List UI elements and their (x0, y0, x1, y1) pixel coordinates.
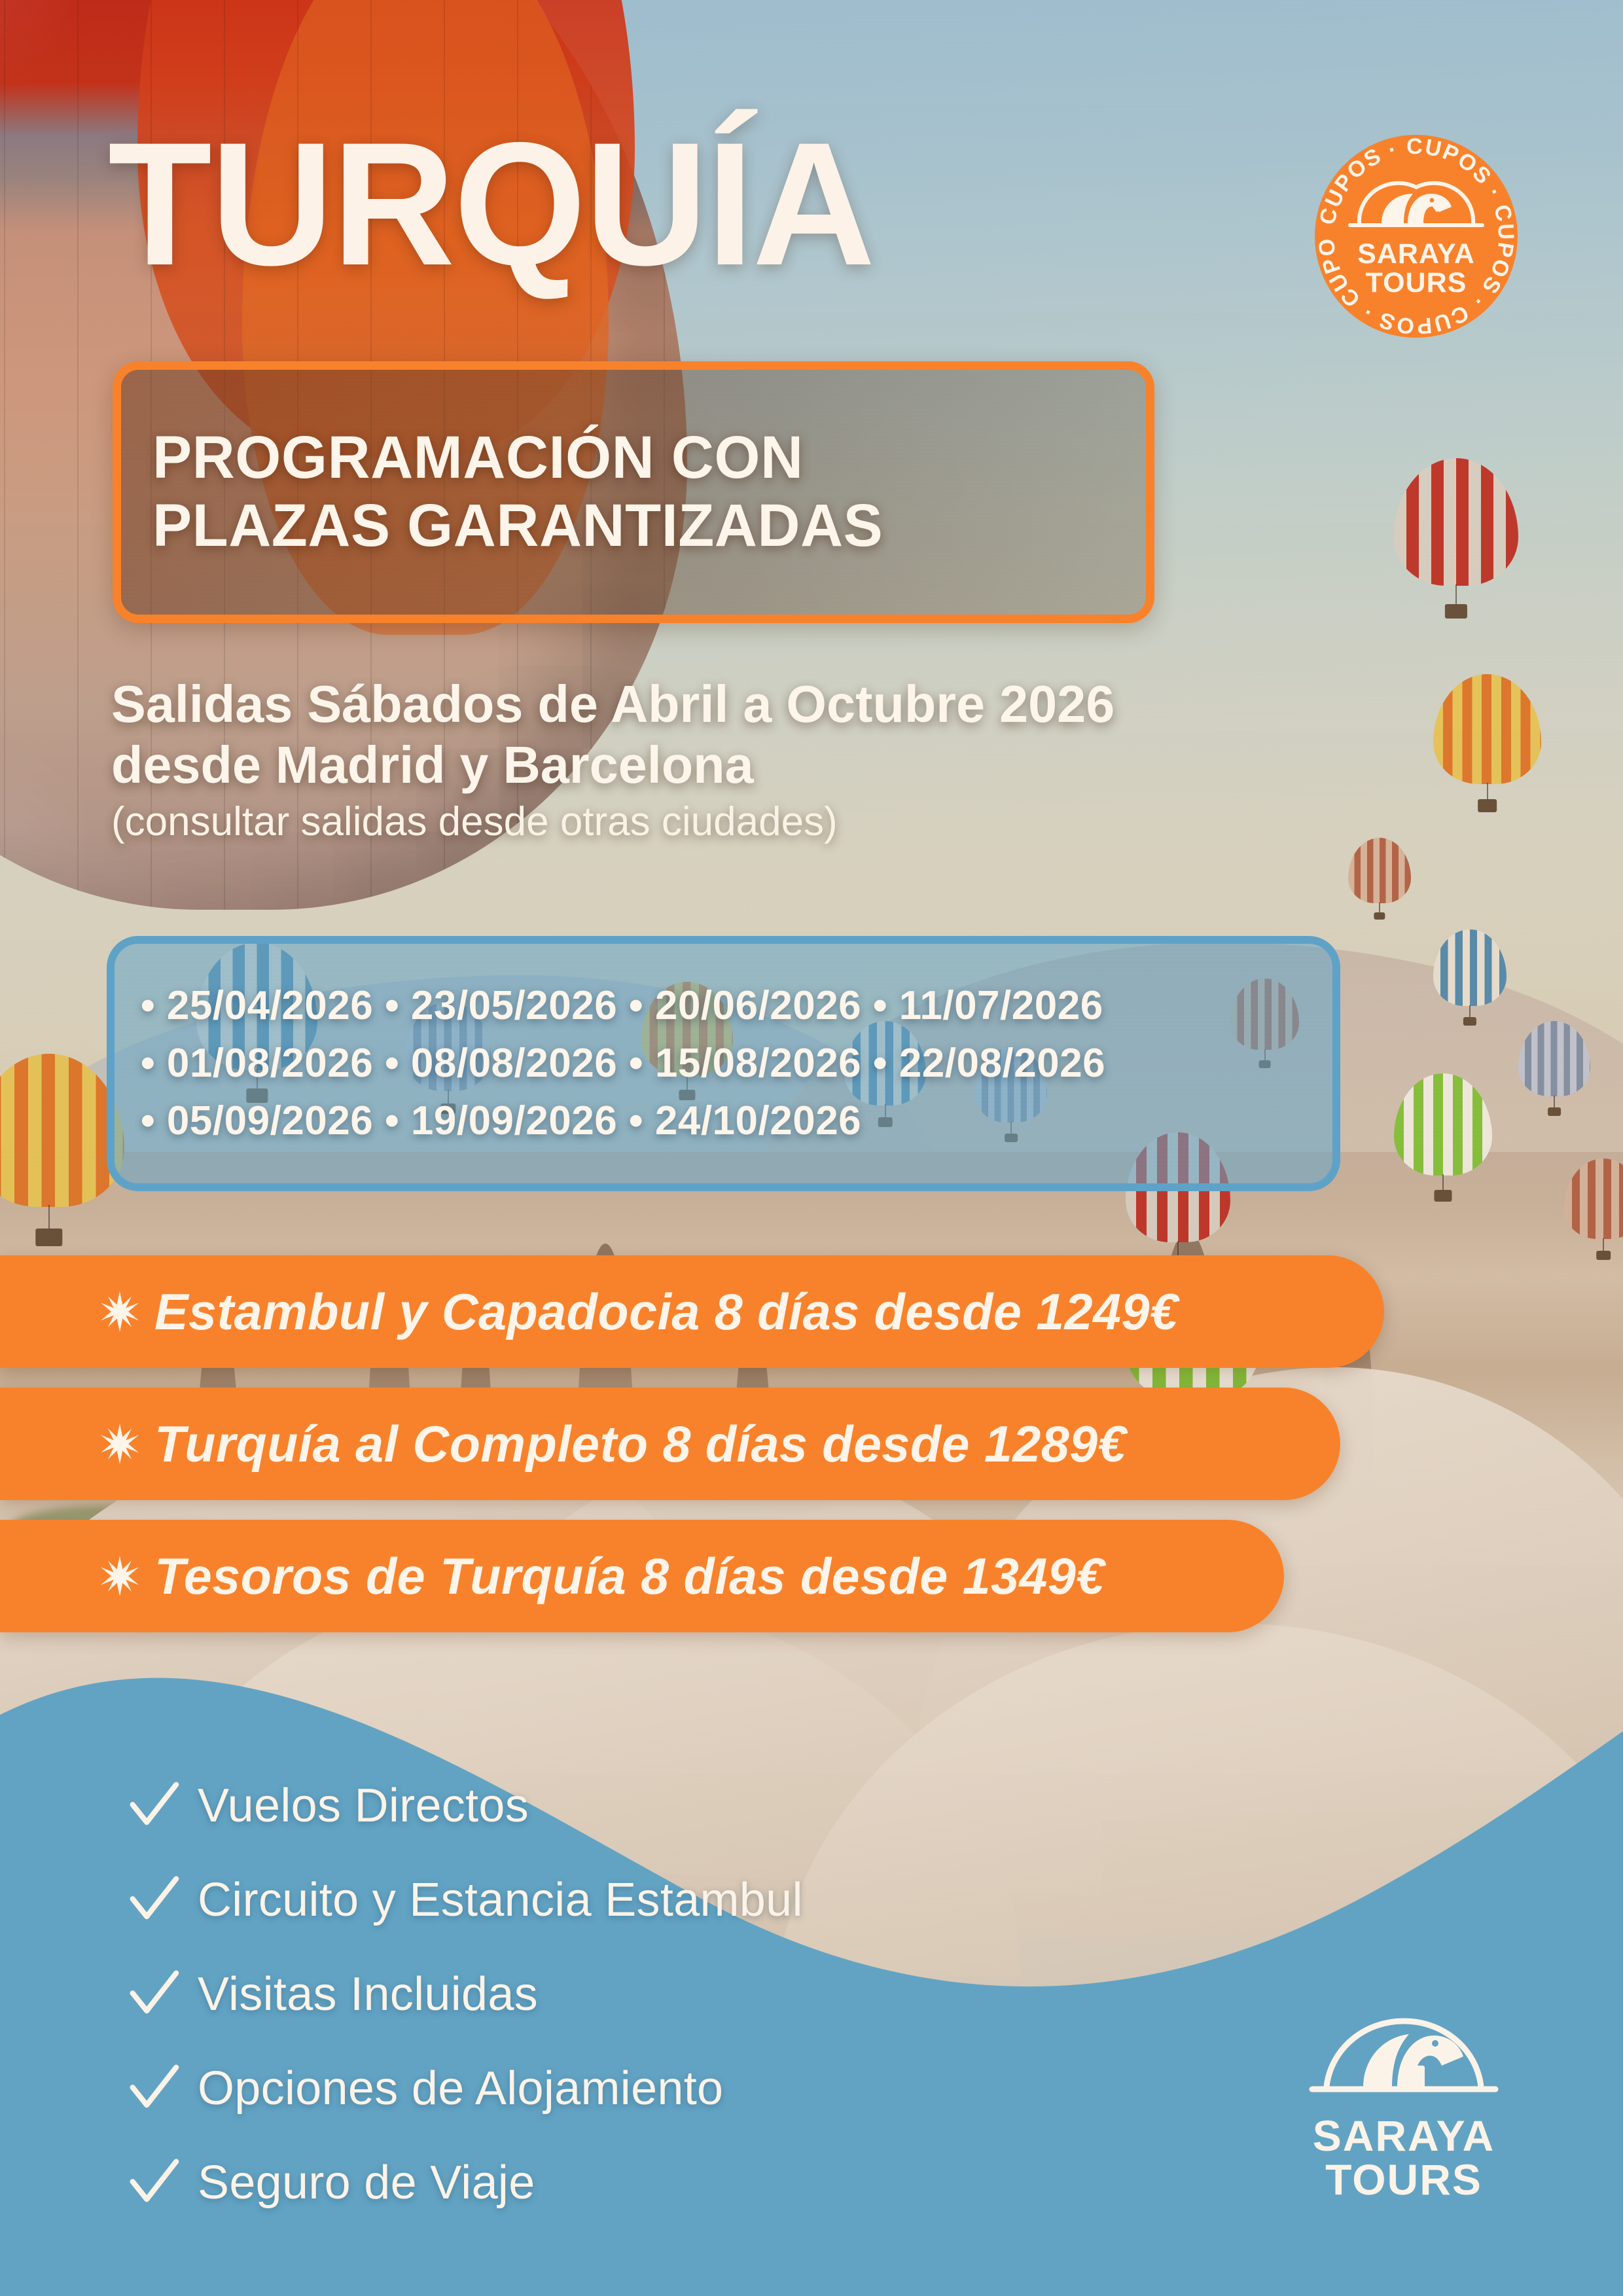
feature-item: Circuito y Estancia Estambul (124, 1861, 803, 1939)
feature-label: Vuelos Directos (198, 1779, 529, 1833)
highlight-line-2: PLAZAS GARANTIZADAS (152, 492, 1126, 560)
logo-text-line-2: TOURS (1293, 2158, 1515, 2202)
starburst-icon (99, 1291, 140, 1332)
feature-label: Circuito y Estancia Estambul (198, 1873, 803, 1927)
dates-row: • 05/09/2026 • 19/09/2026 • 24/10/2026 (141, 1092, 1332, 1150)
feature-item: Visitas Incluidas (124, 1956, 803, 2033)
departures-note: (consultar salidas desde otras ciudades) (111, 800, 1459, 844)
falcon-arch-icon (1293, 2003, 1515, 2114)
check-icon (124, 1871, 183, 1929)
offer-bar[interactable]: Estambul y Capadocia 8 días desde 1249€ (0, 1255, 1384, 1368)
check-icon (124, 1776, 183, 1835)
poster-content: TURQUÍA CUPOS · CUPOS · CUPOS · CUPOS · … (0, 0, 1623, 2296)
highlight-line-1: PROGRAMACIÓN CON (152, 424, 1126, 492)
departures-block: Salidas Sábados de Abril a Octubre 2026 … (111, 674, 1459, 844)
features-list: Vuelos Directos Circuito y Estancia Esta… (124, 1767, 803, 2238)
starburst-icon (99, 1556, 140, 1596)
departures-headline-1: Salidas Sábados de Abril a Octubre 2026 (111, 674, 1446, 735)
departure-dates-box: • 25/04/2026 • 23/05/2026 • 20/06/2026 •… (107, 936, 1340, 1191)
page-title: TURQUÍA (108, 128, 874, 279)
saraya-tours-logo: SARAYA TOURS (1293, 2003, 1515, 2219)
offer-label: Tesoros de Turquía 8 días desde 1349€ (154, 1547, 1105, 1606)
feature-label: Visitas Incluidas (198, 1967, 538, 2021)
highlight-box-programacion: PROGRAMACIÓN CON PLAZAS GARANTIZADAS (113, 361, 1154, 623)
starburst-icon (99, 1424, 140, 1464)
feature-label: Opciones de Alojamiento (198, 2062, 723, 2115)
dates-row: • 25/04/2026 • 23/05/2026 • 20/06/2026 •… (141, 977, 1332, 1035)
check-icon (124, 1965, 183, 2024)
poster-canvas: TURQUÍA CUPOS · CUPOS · CUPOS · CUPOS · … (0, 0, 1623, 2296)
departures-headline-2: desde Madrid y Barcelona (111, 735, 1446, 796)
feature-item: Seguro de Viaje (124, 2144, 803, 2221)
logo-text-line-1: SARAYA (1293, 2114, 1515, 2158)
check-icon (124, 2059, 183, 2118)
check-icon (124, 2153, 183, 2212)
svg-text:TOURS: TOURS (1366, 267, 1467, 298)
offer-label: Estambul y Capadocia 8 días desde 1249€ (154, 1282, 1178, 1342)
feature-item: Opciones de Alojamiento (124, 2050, 803, 2127)
offers-list: Estambul y Capadocia 8 días desde 1249€ … (0, 1255, 1623, 1632)
cupos-stamp-badge: CUPOS · CUPOS · CUPOS · CUPOS · CUPOS · … (1308, 128, 1524, 344)
offer-bar[interactable]: Turquía al Completo 8 días desde 1289€ (0, 1388, 1340, 1500)
feature-label: Seguro de Viaje (198, 2156, 535, 2210)
offer-label: Turquía al Completo 8 días desde 1289€ (154, 1414, 1126, 1474)
feature-item: Vuelos Directos (124, 1767, 803, 1844)
offer-bar[interactable]: Tesoros de Turquía 8 días desde 1349€ (0, 1520, 1284, 1632)
dates-row: • 01/08/2026 • 08/08/2026 • 15/08/2026 •… (141, 1035, 1332, 1092)
svg-text:SARAYA: SARAYA (1357, 238, 1475, 270)
